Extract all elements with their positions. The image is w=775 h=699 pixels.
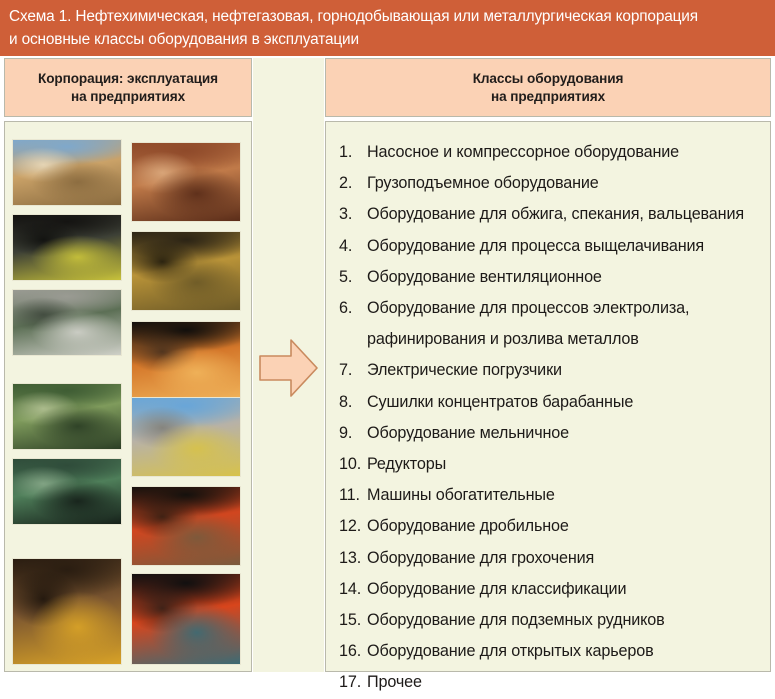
- photo-image: [132, 487, 240, 565]
- equipment-item-label-continued: рафинирования и розлива металлов: [339, 324, 761, 355]
- equipment-item-number: 9.: [339, 418, 367, 449]
- equipment-item-number: 14.: [339, 574, 367, 605]
- equipment-class-list: 1.Насосное и компрессорное оборудование2…: [325, 121, 771, 672]
- equipment-item-label: Оборудование для классификации: [367, 574, 761, 605]
- equipment-item-number: 11.: [339, 480, 367, 511]
- photo-image: [13, 559, 121, 664]
- equipment-item-label: Оборудование для процесса выщелачивания: [367, 231, 761, 262]
- right-column-header-label: Классы оборудования на предприятиях: [473, 70, 624, 106]
- equipment-list-item: 13.Оборудование для грохочения: [339, 543, 761, 574]
- photo-left-4: [12, 383, 122, 450]
- equipment-item-label: Оборудование для грохочения: [367, 543, 761, 574]
- equipment-list-item: 10.Редукторы: [339, 449, 761, 480]
- equipment-item-number: 6.: [339, 293, 367, 324]
- photo-right-4: [131, 397, 241, 477]
- equipment-item-number: 7.: [339, 355, 367, 386]
- equipment-list-item: 17.Прочее: [339, 667, 761, 698]
- equipment-item-label: Оборудование для подземных рудников: [367, 605, 761, 636]
- equipment-list-item: 2.Грузоподъемное оборудование: [339, 168, 761, 199]
- photo-image: [132, 322, 240, 400]
- equipment-item-number: 1.: [339, 137, 367, 168]
- photo-image: [13, 459, 121, 524]
- photo-image: [13, 140, 121, 205]
- equipment-list-item: 15.Оборудование для подземных рудников: [339, 605, 761, 636]
- photo-image: [13, 290, 121, 355]
- photo-grid: [4, 121, 252, 672]
- photo-right-6: [131, 573, 241, 665]
- equipment-list-item: 8.Сушилки концентратов барабанные: [339, 387, 761, 418]
- equipment-item-number: 17.: [339, 667, 367, 698]
- photo-left-1: [12, 139, 122, 206]
- left-column-header-label: Корпорация: эксплуатация на предприятиях: [38, 70, 218, 106]
- equipment-list-item: 3.Оборудование для обжига, спекания, вал…: [339, 199, 761, 230]
- equipment-list-item: 14.Оборудование для классификации: [339, 574, 761, 605]
- equipment-item-label: Оборудование мельничное: [367, 418, 761, 449]
- photo-left-2: [12, 214, 122, 281]
- equipment-list-item: 6.Оборудование для процессов электролиза…: [339, 293, 761, 324]
- equipment-list-item: 7.Электрические погрузчики: [339, 355, 761, 386]
- equipment-item-number: 4.: [339, 231, 367, 262]
- equipment-list-item: 12.Оборудование дробильное: [339, 511, 761, 542]
- equipment-item-number: 15.: [339, 605, 367, 636]
- equipment-item-label: Насосное и компрессорное оборудование: [367, 137, 761, 168]
- left-column-header: Корпорация: эксплуатация на предприятиях: [4, 58, 252, 117]
- photo-left-6: [12, 558, 122, 665]
- photo-image: [13, 384, 121, 449]
- photo-image: [132, 232, 240, 310]
- equipment-item-number: 2.: [339, 168, 367, 199]
- photo-left-3: [12, 289, 122, 356]
- equipment-list-item: 1.Насосное и компрессорное оборудование: [339, 137, 761, 168]
- photo-image: [13, 215, 121, 280]
- right-column-header: Классы оборудования на предприятиях: [325, 58, 771, 117]
- equipment-item-label: Оборудование вентиляционное: [367, 262, 761, 293]
- equipment-item-label: Грузоподъемное оборудование: [367, 168, 761, 199]
- photo-right-3: [131, 321, 241, 401]
- figure-title-bar: Схема 1. Нефтехимическая, нефтегазовая, …: [0, 0, 775, 56]
- equipment-item-number: 10.: [339, 449, 367, 480]
- diagram-figure: Схема 1. Нефтехимическая, нефтегазовая, …: [0, 0, 775, 680]
- equipment-item-label: Оборудование для обжига, спекания, вальц…: [367, 199, 761, 230]
- figure-title: Схема 1. Нефтехимическая, нефтегазовая, …: [9, 5, 767, 51]
- photo-right-5: [131, 486, 241, 566]
- photo-right-2: [131, 231, 241, 311]
- equipment-item-label: Электрические погрузчики: [367, 355, 761, 386]
- equipment-list-item: 4.Оборудование для процесса выщелачивани…: [339, 231, 761, 262]
- equipment-item-label: Прочее: [367, 667, 761, 698]
- equipment-item-number: 16.: [339, 636, 367, 667]
- equipment-item-label: Оборудование для процессов электролиза,: [367, 293, 761, 324]
- equipment-item-number: 8.: [339, 387, 367, 418]
- photo-image: [132, 574, 240, 664]
- equipment-item-label: Оборудование для открытых карьеров: [367, 636, 761, 667]
- equipment-item-number: 13.: [339, 543, 367, 574]
- equipment-item-label: Сушилки концентратов барабанные: [367, 387, 761, 418]
- photo-image: [132, 398, 240, 476]
- equipment-item-label: Оборудование дробильное: [367, 511, 761, 542]
- equipment-item-number: 12.: [339, 511, 367, 542]
- equipment-list-item: 5.Оборудование вентиляционное: [339, 262, 761, 293]
- equipment-list-item: 9.Оборудование мельничное: [339, 418, 761, 449]
- equipment-list-item: 16.Оборудование для открытых карьеров: [339, 636, 761, 667]
- equipment-item-number: 5.: [339, 262, 367, 293]
- equipment-item-label: Машины обогатительные: [367, 480, 761, 511]
- photo-right-1: [131, 142, 241, 222]
- equipment-list-item: 11.Машины обогатительные: [339, 480, 761, 511]
- equipment-item-number: 3.: [339, 199, 367, 230]
- photo-left-5: [12, 458, 122, 525]
- right-arrow-icon: [258, 337, 319, 399]
- photo-image: [132, 143, 240, 221]
- equipment-item-label: Редукторы: [367, 449, 761, 480]
